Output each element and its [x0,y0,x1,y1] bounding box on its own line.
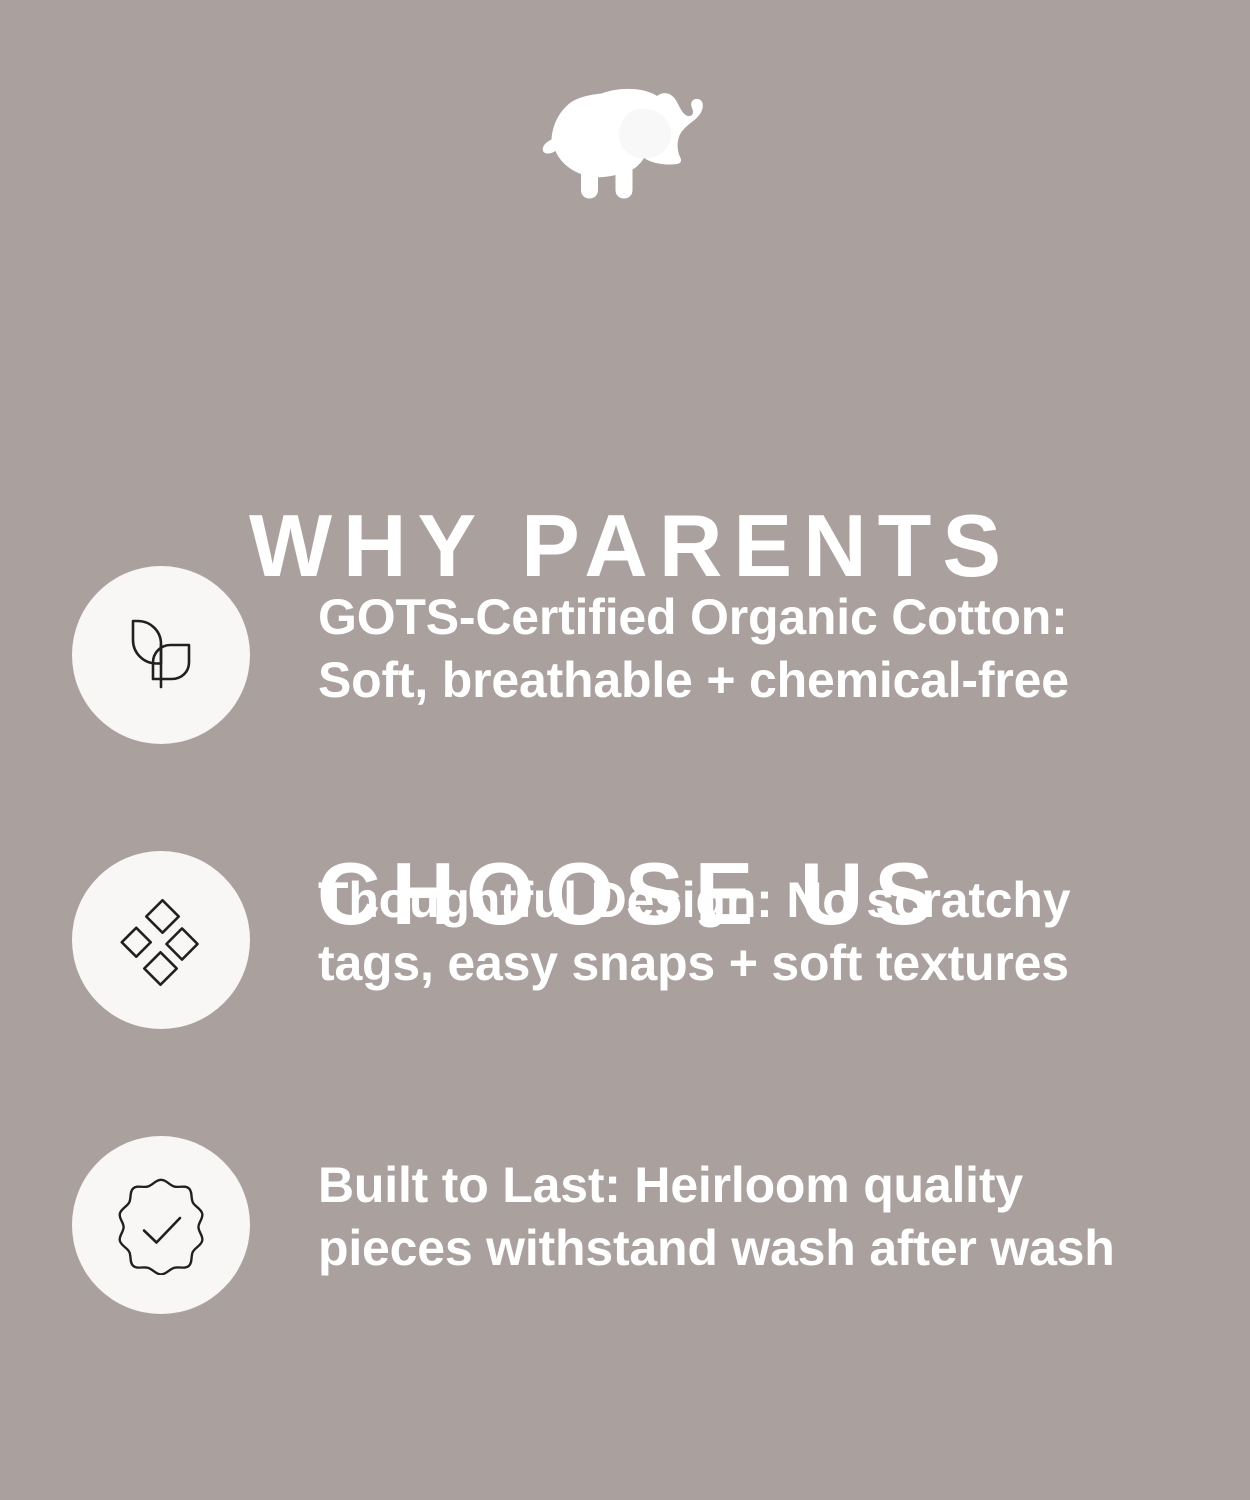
brand-logo [0,78,1250,203]
check-badge-icon [111,1175,211,1275]
feature-list: GOTS-Certified Organic Cotton: Soft, bre… [0,566,1250,1421]
feature-row: Thoughtful Design: No scratchy tags, eas… [0,851,1250,1136]
feature-icon-badge [72,851,250,1029]
feature-row: GOTS-Certified Organic Cotton: Soft, bre… [0,566,1250,851]
feature-text: Built to Last: Heirloom quality pieces w… [318,1154,1178,1280]
feature-icon-badge [72,1136,250,1314]
elephant-icon [541,82,709,200]
sprout-icon [113,607,209,703]
four-diamonds-icon [113,892,209,988]
feature-text: Thoughtful Design: No scratchy tags, eas… [318,869,1178,995]
feature-text: GOTS-Certified Organic Cotton: Soft, bre… [318,586,1178,712]
feature-row: Built to Last: Heirloom quality pieces w… [0,1136,1250,1421]
feature-icon-badge [72,566,250,744]
